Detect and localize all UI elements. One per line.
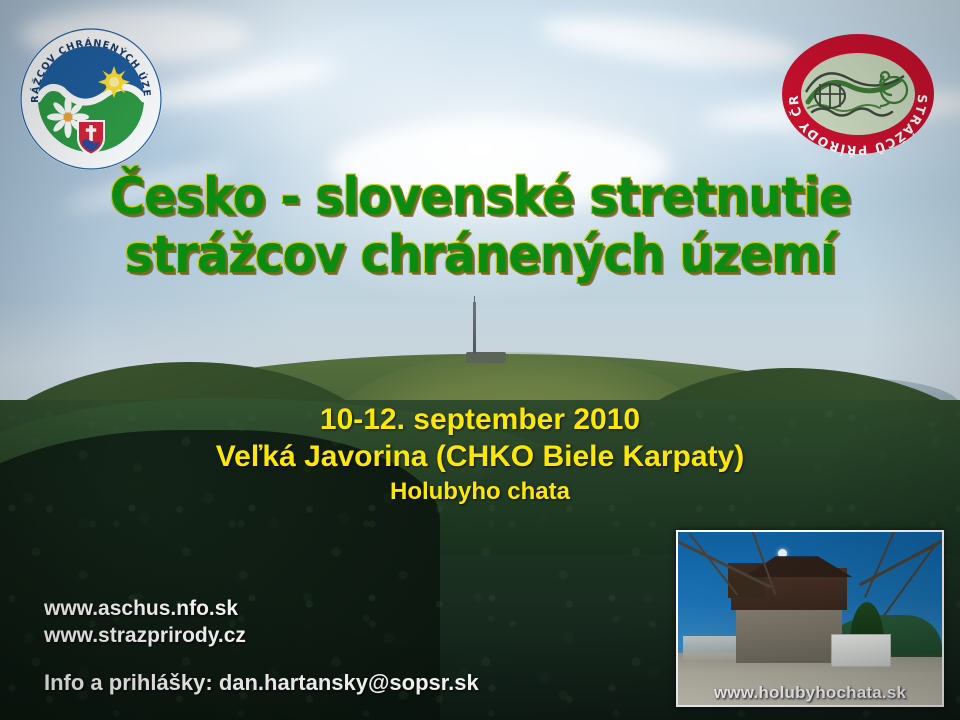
inset-photo-holubyho-chata: www.holubyhochata.sk (676, 530, 944, 707)
transmitter-tower-tip (474, 296, 475, 304)
summit-building (466, 352, 506, 363)
registration-email-line[interactable]: Info a prihlášky: dan.hartansky@sopsr.sk (44, 669, 479, 697)
transmitter-tower (473, 302, 476, 354)
event-dates: 10-12. september 2010 (0, 402, 960, 438)
title-line-2: strážcov chránených území (38, 226, 921, 284)
title-line-1: Česko - slovenské stretnutie (38, 168, 921, 226)
inset-annex-building (831, 634, 891, 667)
inset-side-building (683, 636, 736, 660)
rock-icon (815, 84, 845, 109)
inset-photo-caption[interactable]: www.holubyhochata.sk (678, 683, 942, 703)
contact-details: www.aschus.nfo.sk www.strazprirody.cz In… (44, 595, 479, 697)
aschus-logo[interactable]: ASOCIACIA STRÁŽCOV CHRÁNENÝCH ÚZEMÍ SLOV… (18, 26, 164, 172)
asociace-strazcu-prirody-logo[interactable]: ASOCIACE STRÁŽCŮ PŘÍRODY ČR (778, 30, 938, 158)
event-venue: Holubyho chata (0, 476, 960, 508)
event-details: 10-12. september 2010 Veľká Javorina (CH… (0, 402, 960, 508)
website-aschus[interactable]: www.aschus.nfo.sk (44, 595, 479, 622)
event-location: Veľká Javorina (CHKO Biele Karpaty) (0, 438, 960, 476)
poster-title: Česko - slovenské stretnutie strážcov ch… (0, 168, 960, 284)
sun-icon (98, 66, 130, 98)
poster: ASOCIACIA STRÁŽCOV CHRÁNENÝCH ÚZEMÍ SLOV… (0, 0, 960, 720)
website-strazprirody[interactable]: www.strazprirody.cz (44, 622, 479, 649)
